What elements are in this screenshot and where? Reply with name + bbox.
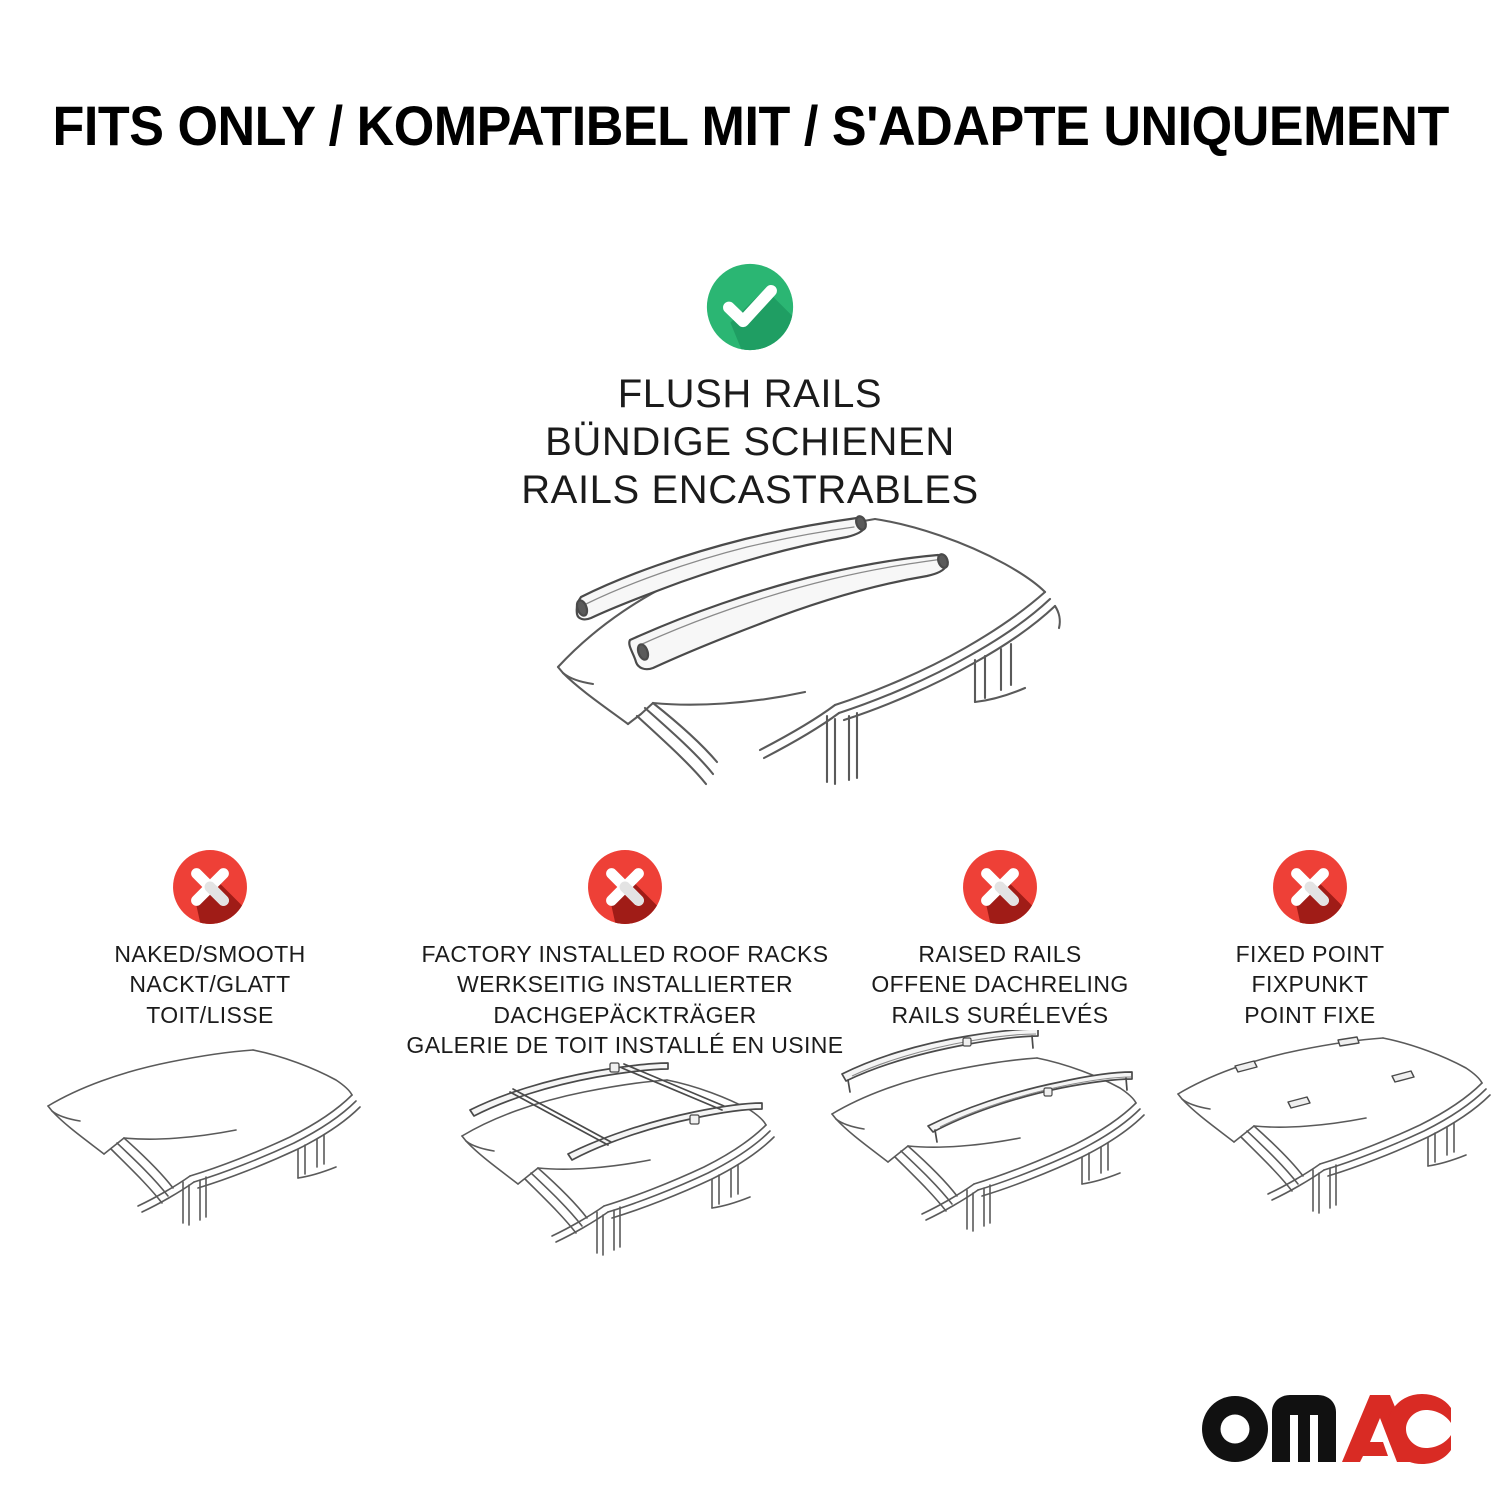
label-en: NAKED/SMOOTH (40, 939, 380, 969)
label-fr: GALERIE DE TOIT INSTALLÉ EN USINE (395, 1030, 855, 1060)
compatible-label-de: BÜNDIGE SCHIENEN (0, 418, 1500, 466)
check-badge-wrap (0, 258, 1500, 356)
label-de: NACKT/GLATT (40, 969, 380, 999)
incompatible-item-fixed-point: FIXED POINT FIXPUNKT POINT FIXE (1170, 845, 1450, 1030)
check-circle-icon (701, 258, 799, 356)
car-roof-flush-rails-illustration (445, 492, 1065, 812)
omac-logo-mark (1200, 1394, 1452, 1464)
incompatible-item-factory-roof-racks: FACTORY INSTALLED ROOF RACKS WERKSEITIG … (395, 845, 855, 1060)
car-roof-factory-racks-illustration (450, 1060, 795, 1285)
label-en: FACTORY INSTALLED ROOF RACKS (395, 939, 855, 969)
omac-logo: OMAC (1200, 1396, 1452, 1462)
compatible-section: FLUSH RAILS BÜNDIGE SCHIENEN RAILS ENCAS… (0, 258, 1500, 514)
car-roof-naked-illustration (40, 1030, 380, 1255)
incompatible-labels-factory-roof-racks: FACTORY INSTALLED ROOF RACKS WERKSEITIG … (395, 939, 855, 1060)
label-de: FIXPUNKT (1170, 969, 1450, 999)
incompatible-section: NAKED/SMOOTH NACKT/GLATT TOIT/LISSE (0, 845, 1500, 1305)
label-fr: TOIT/LISSE (40, 1000, 380, 1030)
page-header: FITS ONLY / KOMPATIBEL MIT / S'ADAPTE UN… (0, 98, 1500, 154)
car-roof-raised-rails-illustration (820, 1030, 1165, 1255)
page-title: FITS ONLY / KOMPATIBEL MIT / S'ADAPTE UN… (53, 98, 1448, 154)
cross-circle-icon (583, 845, 667, 929)
compatible-label-en: FLUSH RAILS (0, 370, 1500, 418)
incompatible-item-raised-rails: RAISED RAILS OFFENE DACHRELING RAILS SUR… (845, 845, 1155, 1030)
cross-badge-wrap (395, 845, 855, 929)
label-en: RAISED RAILS (845, 939, 1155, 969)
incompatible-labels-raised-rails: RAISED RAILS OFFENE DACHRELING RAILS SUR… (845, 939, 1155, 1030)
car-roof-fixed-point-illustration (1170, 1030, 1500, 1255)
incompatible-item-naked-smooth: NAKED/SMOOTH NACKT/GLATT TOIT/LISSE (40, 845, 380, 1030)
cross-circle-icon (958, 845, 1042, 929)
label-fr: RAILS SURÉLEVÉS (845, 1000, 1155, 1030)
cross-badge-wrap (1170, 845, 1450, 929)
cross-circle-icon (1268, 845, 1352, 929)
label-fr: POINT FIXE (1170, 1000, 1450, 1030)
cross-badge-wrap (40, 845, 380, 929)
label-en: FIXED POINT (1170, 939, 1450, 969)
cross-badge-wrap (845, 845, 1155, 929)
label-de-1: WERKSEITIG INSTALLIERTER (395, 969, 855, 999)
cross-circle-icon (168, 845, 252, 929)
incompatible-labels-naked-smooth: NAKED/SMOOTH NACKT/GLATT TOIT/LISSE (40, 939, 380, 1030)
label-de-2: DACHGEPÄCKTRÄGER (395, 1000, 855, 1030)
incompatible-labels-fixed-point: FIXED POINT FIXPUNKT POINT FIXE (1170, 939, 1450, 1030)
label-de: OFFENE DACHRELING (845, 969, 1155, 999)
